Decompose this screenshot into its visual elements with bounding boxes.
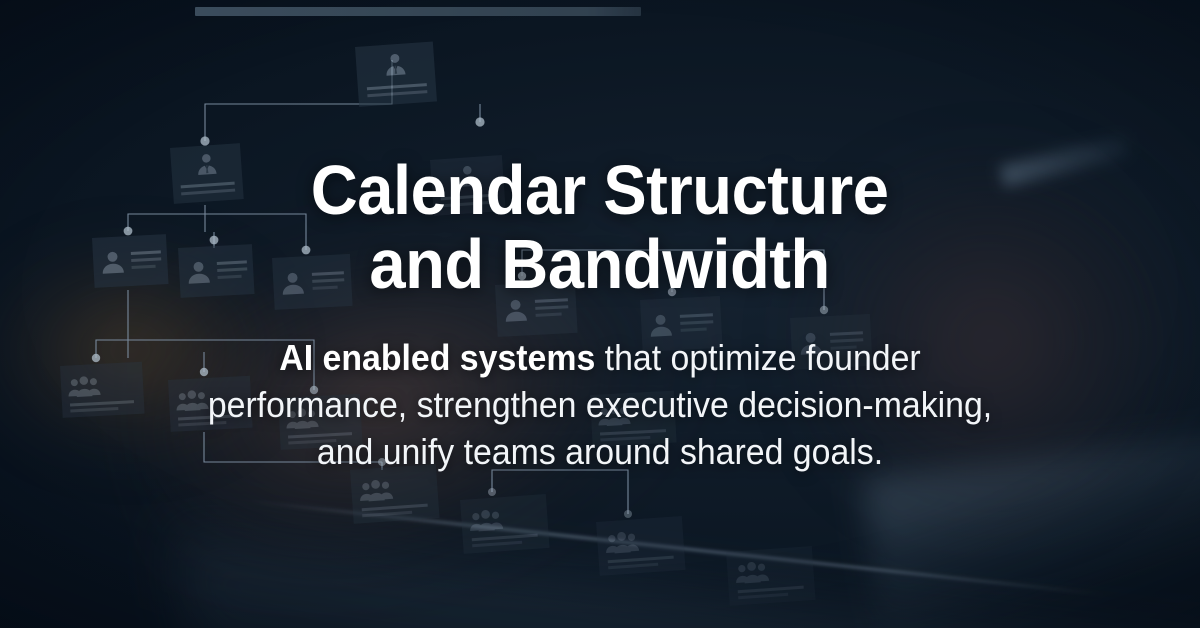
promo-banner: Calendar Structure and Bandwidth AI enab… (0, 0, 1200, 628)
headline-line-2: and Bandwidth (311, 227, 889, 301)
subtitle-emphasis: AI enabled systems (279, 337, 595, 378)
headline-line-1: Calendar Structure (311, 153, 889, 227)
banner-content: Calendar Structure and Bandwidth AI enab… (0, 0, 1200, 628)
page-title: Calendar Structure and Bandwidth (311, 153, 889, 301)
page-subtitle: AI enabled systems that optimize founder… (177, 335, 1023, 475)
